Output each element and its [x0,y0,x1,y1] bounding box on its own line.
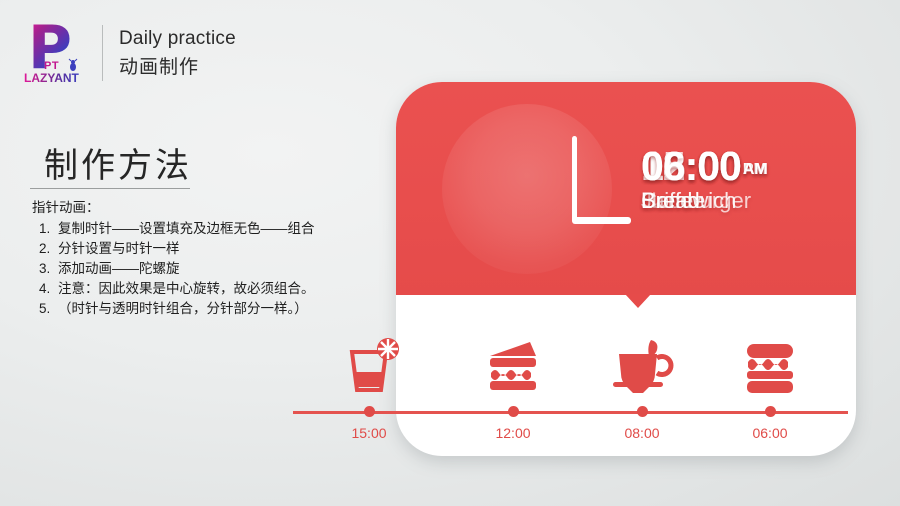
minute-hand-icon [572,136,577,222]
header-divider [102,25,103,81]
page-title: 制作方法 [44,138,192,187]
time-display-stack: 18:00PM Hamburger 15:00PM Juice 12:00PM … [641,144,841,236]
instructions-list: 复制时针——设置填充及边框无色——组合 分针设置与时针一样 添加动画——陀螺旋 … [32,219,422,319]
slide-canvas: P PT LAZYANT Daily practice 动画制作 制作方法 指针… [0,0,900,506]
hamburger-icon [727,336,813,398]
timeline-label: 08:00 [624,425,659,441]
slide-header: P PT LAZYANT Daily practice 动画制作 [22,22,236,84]
time-value: 06:00 [641,143,741,189]
timeline-label: 12:00 [495,425,530,441]
speech-bubble-notch [625,294,651,308]
sandwich-icon [470,336,556,398]
instructions-lead: 指针动画： [32,198,422,218]
instructions-block: 指针动画： 复制时针——设置填充及边框无色——组合 分针设置与时针一样 添加动画… [32,198,422,319]
title-underline [30,188,190,189]
header-title-group: Daily practice 动画制作 [119,28,236,79]
list-item: 分针设置与时针一样 [54,239,422,259]
timeline-label: 06:00 [752,425,787,441]
timeline-dot [637,406,648,417]
timeline-dot [765,406,776,417]
time-meal-label: Bread [641,188,700,214]
hour-hand-icon [572,217,631,224]
juice-glass-icon [326,336,412,398]
ant-icon [66,58,80,72]
header-title-cn: 动画制作 [119,52,236,79]
timeline-dot [364,406,375,417]
logo-lazyant-label: LAZYANT [24,71,79,85]
coffee-cup-icon [599,336,685,398]
list-item: （时针与透明时针组合，分针部分一样。） [54,299,422,319]
schedule-card: 18:00PM Hamburger 15:00PM Juice 12:00PM … [396,82,856,456]
clock-face-glow [442,104,612,274]
timeline-icon-sandwich[interactable] [470,336,556,398]
list-item: 复制时针——设置填充及边框无色——组合 [54,219,422,239]
header-title-en: Daily practice [119,28,236,50]
time-layer: 06:00AM Bread [641,144,768,192]
timeline-icon-coffee[interactable] [599,336,685,398]
time-ampm: AM [743,161,768,178]
timeline-label: 15:00 [351,425,386,441]
list-item: 添加动画——陀螺旋 [54,259,422,279]
brand-logo: P PT LAZYANT [22,22,88,84]
timeline-icon-hamburger[interactable] [727,336,813,398]
timeline-icon-juice[interactable] [326,336,412,398]
timeline-dot [508,406,519,417]
list-item: 注意：因此效果是中心旋转，故必须组合。 [54,279,422,299]
